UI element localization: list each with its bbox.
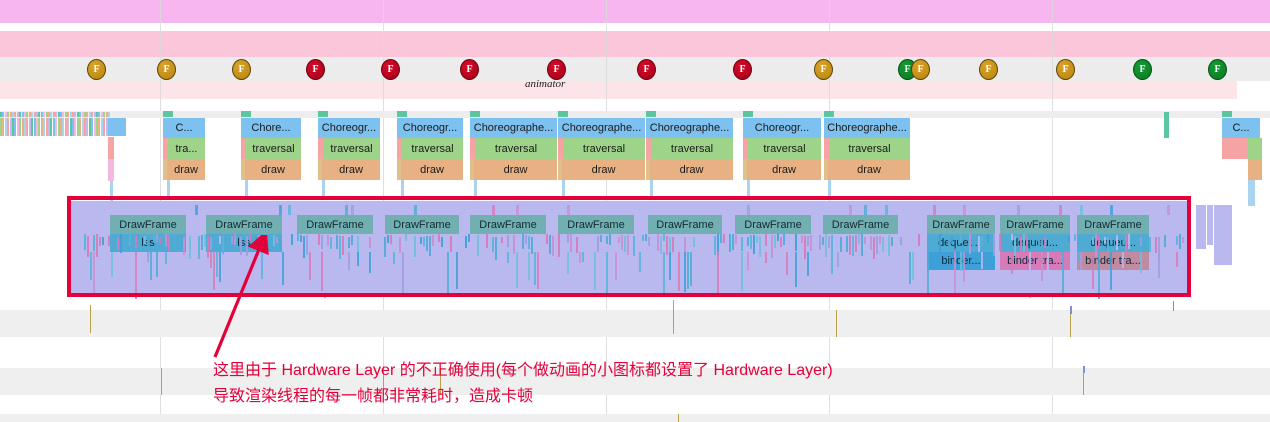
render-thread-fragment [1207,205,1213,245]
render-subslice [1107,236,1109,252]
render-subslice [732,234,734,250]
drawframe-slice-7[interactable]: DrawFrame [735,215,811,234]
frame-marker-amber-11[interactable]: F [911,59,930,80]
ui-slice-draw-0[interactable]: draw [167,159,205,180]
render-subslice [93,252,95,297]
render-subslice [579,252,581,263]
vsync-marker-3 [397,111,407,117]
render-subslice [570,234,572,252]
timeline-tick [1070,314,1071,337]
render-subslice [666,236,668,255]
ui-slice-draw-5[interactable]: draw [562,159,645,180]
render-subslice [84,234,86,250]
drawframe-slice-4[interactable]: DrawFrame [470,215,546,234]
render-subslice [567,234,569,243]
render-subslice [783,234,785,245]
render-subslice [693,237,695,247]
render-subslice [369,237,371,248]
ui-slice-draw-8[interactable]: draw [828,159,910,180]
render-subslice [1125,235,1127,254]
ui-slice-choreographer-2[interactable]: Choreogr... [318,118,380,138]
render-subslice [117,237,119,250]
render-subslice [1089,236,1091,245]
render-subslice [543,237,545,259]
render-subslice [1110,205,1113,215]
render-subslice [1167,205,1170,215]
render-subslice [849,205,852,215]
render-subslice [663,234,665,241]
render-subslice [801,235,803,243]
render-subslice [195,205,198,215]
render-subslice [399,237,401,253]
ui-slice-draw-7[interactable]: draw [747,159,821,180]
vsync-marker-2 [318,111,328,117]
drawframe-slice-2[interactable]: DrawFrame [297,215,373,234]
drawframe-slice-8[interactable]: DrawFrame [823,215,898,234]
render-subslice [753,235,755,254]
annotation-line-2: 导致渲染线程的每一帧都非常耗时，造成卡顿 [213,384,533,410]
render-subslice [1092,252,1094,289]
render-subslice [804,236,806,259]
ui-slice-traversal-1[interactable]: traversal [246,138,301,159]
timeline-tick [836,310,837,337]
render-subslice [687,252,689,289]
render-subslice [450,236,452,252]
render-subslice [318,234,320,245]
render-subslice [576,237,578,253]
render-subslice [531,237,533,254]
render-subslice [963,252,965,282]
render-subslice [93,235,95,251]
render-subslice [660,236,662,254]
render-subslice [279,205,282,215]
frame-marker-red-3[interactable]: F [306,59,325,80]
ui-slice-traversal-6[interactable]: traversal [651,138,733,159]
render-subslice [108,236,110,246]
render-subslice [600,235,602,242]
render-subslice [684,252,686,292]
render-subslice [1047,252,1049,284]
render-subslice [1059,205,1062,215]
ui-slice-traversal-2[interactable]: traversal [323,138,380,159]
render-subslice [1179,234,1181,249]
render-subslice [387,235,389,243]
drawframe-slice-0[interactable]: DrawFrame [110,215,186,234]
render-subslice [810,235,812,251]
render-subslice [375,236,377,254]
render-subslice [780,237,782,247]
render-subslice [852,236,854,256]
frame-marker-amber-2[interactable]: F [232,59,251,80]
ui-slice-traversal-3[interactable]: traversal [402,138,463,159]
render-subslice [501,237,503,243]
ui-slice-choreographer-6[interactable]: Choreographe... [646,118,733,138]
render-subslice [1155,237,1157,253]
render-subslice [147,252,149,262]
render-subslice [402,252,404,296]
render-subslice [165,234,167,246]
render-subslice [1104,237,1106,243]
render-subslice [438,234,440,242]
red-callout-arrow [190,235,300,360]
render-subslice [429,236,431,256]
render-subslice [1116,235,1118,250]
render-subslice [1038,235,1040,249]
timeline-tick [1083,366,1085,373]
render-subslice [606,252,608,293]
render-subslice [432,235,434,246]
render-subslice [621,235,623,250]
ui-slice-draw-3[interactable]: draw [401,159,463,180]
frame-marker-red-8[interactable]: F [733,59,752,80]
ui-slice-fragment [1248,159,1262,180]
ui-slice-draw-4[interactable]: draw [474,159,557,180]
render-subslice [771,235,773,258]
render-subslice [747,252,749,270]
render-subslice [639,252,641,272]
render-subslice [495,237,497,260]
frame-marker-amber-13[interactable]: F [1056,59,1075,80]
ui-slice-traversal-7[interactable]: traversal [748,138,821,159]
render-subslice [159,237,161,243]
ui-slice-choreographer-0[interactable]: C... [163,118,205,138]
render-subslice [537,252,539,289]
frame-marker-amber-0[interactable]: F [87,59,106,80]
render-subslice [348,237,350,248]
timeline-tick [1173,301,1174,311]
render-subslice [960,252,962,271]
render-subslice [321,235,323,249]
frame-marker-red-5[interactable]: F [460,59,479,80]
render-subslice [1098,252,1100,299]
render-subslice [933,205,936,215]
frame-marker-green-15[interactable]: F [1208,59,1227,80]
render-subslice [1122,252,1124,268]
render-subslice [582,252,584,262]
ui-slice-draw-1[interactable]: draw [245,159,301,180]
render-subslice [999,234,1001,251]
render-subslice [321,252,323,291]
ui-slice-traversal-5[interactable]: traversal [563,138,645,159]
render-subslice [144,236,146,244]
ui-slice-traversal-8[interactable]: traversal [829,138,910,159]
render-subslice [954,252,956,297]
render-subslice [915,234,917,243]
render-subslice [981,252,983,269]
ui-slice-choreographer-7[interactable]: Choreogr... [743,118,821,138]
render-subslice [642,235,644,241]
render-subslice [135,236,137,248]
render-subslice [528,252,530,280]
render-subslice [441,237,443,247]
render-subslice [324,252,326,298]
render-subslice [1014,236,1016,256]
frame-marker-amber-1[interactable]: F [157,59,176,80]
render-subslice [849,235,851,255]
render-subslice [447,252,449,293]
render-subslice [423,252,425,294]
render-subslice [1110,252,1112,290]
render-subslice [963,205,966,215]
render-subslice [1044,237,1046,248]
render-subslice [102,237,104,245]
render-subslice [597,236,599,252]
render-subslice [423,237,425,246]
ui-slice-sync-7 [747,180,750,198]
render-subslice [819,235,821,250]
ui-slice-choreographer-8[interactable]: Choreographe... [824,118,910,138]
render-subslice [456,252,458,289]
render-subslice [750,235,752,249]
vsync-marker-6 [646,111,656,117]
render-subslice [135,252,137,299]
render-subslice [879,236,881,244]
render-subslice [525,235,527,244]
render-subslice [690,252,692,286]
render-subslice [741,252,743,291]
render-subslice [678,252,680,291]
render-subslice [765,234,767,246]
render-subslice [183,237,185,255]
render-subslice [516,205,519,215]
render-subslice [885,205,888,215]
render-subslice [1080,205,1083,215]
render-subslice [795,234,797,251]
render-subslice [615,252,617,280]
drawframe-slice-11[interactable]: DrawFrame [1077,215,1149,234]
render-subslice [1164,235,1166,247]
render-subslice [111,235,113,245]
drawframe-slice-1[interactable]: DrawFrame [206,215,282,234]
timeline-canvas: FFFFFFFFFFFFFFFF animator C...tra...draw… [0,0,1270,422]
render-subslice [516,252,518,288]
ui-slice-sync-3 [401,180,404,198]
render-subslice [633,236,635,256]
render-subslice [534,252,536,285]
render-subslice [822,237,824,245]
render-subslice [327,235,329,246]
render-subslice [426,236,428,251]
render-subslice [492,205,495,215]
render-subslice [99,237,101,246]
drawframe-slice-6[interactable]: DrawFrame [648,215,722,234]
render-subslice [840,237,842,252]
drawframe-slice-10[interactable]: DrawFrame [1000,215,1070,234]
ui-slice-sync-0 [167,180,170,198]
render-subslice [837,252,839,267]
vsync-marker-8 [824,111,834,117]
render-subslice [513,235,515,254]
render-subslice [111,252,113,277]
vsync-marker-0 [163,111,173,117]
drawframe-slice-3[interactable]: DrawFrame [385,215,459,234]
ui-slice-sync-4 [474,180,477,198]
frame-marker-red-6[interactable]: F [547,59,566,80]
render-subslice [786,234,788,251]
render-subslice [717,252,719,294]
render-subslice [414,236,416,257]
render-subslice [1086,235,1088,246]
vsync-marker-9 [1222,111,1232,117]
timeline-tick [161,368,162,395]
render-subslice [507,235,509,247]
frame-marker-green-14[interactable]: F [1133,59,1152,80]
render-subslice [606,236,608,244]
render-subslice [711,205,714,215]
ui-slice-traversal-0[interactable]: tra... [168,138,205,159]
ui-slice-draw-2[interactable]: draw [322,159,380,180]
ui-slice-sync-8 [828,180,831,198]
render-subslice [861,234,863,256]
render-subslice [1080,252,1082,270]
render-subslice [315,252,317,279]
render-subslice [960,235,962,243]
render-subslice [567,252,569,274]
render-subslice [774,235,776,248]
ui-slice-sync-6 [650,180,653,198]
render-subslice [477,235,479,256]
render-subslice [357,252,359,266]
ui-slice-choreographer-9[interactable]: C... [1222,118,1260,138]
render-subslice [528,236,530,249]
render-subslice [165,252,167,264]
render-subslice [393,252,395,264]
frame-marker-red-4[interactable]: F [381,59,400,80]
render-subslice [609,234,611,245]
ui-slice-sync-5 [562,180,565,198]
render-subslice [891,237,893,246]
render-subslice [486,234,488,248]
render-subslice [987,234,989,243]
render-subslice [1020,236,1022,252]
lower-row-3 [0,414,1270,422]
render-subslice [711,236,713,243]
render-subslice [153,235,155,242]
timeline-tick [90,305,91,333]
render-subslice [729,234,731,252]
timeline-tick [678,414,679,422]
render-subslice [492,252,494,262]
render-subslice [876,236,878,254]
render-subslice [558,234,560,257]
render-subslice [303,236,305,258]
render-subslice [741,237,743,251]
render-subslice [1029,252,1031,298]
render-subslice [150,252,152,280]
render-subslice [546,234,548,244]
render-subslice [777,234,779,241]
ui-slice-choreographer-5[interactable]: Choreographe... [558,118,645,138]
render-subslice [156,234,158,242]
ui-slice-choreographer-1[interactable]: Chore... [241,118,301,138]
render-subslice [369,252,371,273]
render-subslice [714,236,716,255]
render-subslice [789,237,791,257]
ui-slice-fragment [1164,112,1169,138]
drawframe-slice-9[interactable]: DrawFrame [927,215,995,234]
render-subslice [1128,234,1130,249]
render-subslice [414,205,417,215]
ui-slice-choreographer-4[interactable]: Choreographe... [470,118,557,138]
render-subslice [90,252,92,280]
render-subslice [795,252,797,287]
render-subslice [927,234,929,250]
render-subslice [858,234,860,244]
render-subslice [1032,234,1034,245]
ui-slice-sync-1 [245,180,248,198]
render-subslice [807,236,809,246]
ui-slice-choreographer-3[interactable]: Choreogr... [397,118,463,138]
vsync-marker-4 [470,111,480,117]
render-subslice [969,234,971,254]
render-thread-fragment [1196,205,1206,249]
render-subslice [948,237,950,253]
band-async-magenta [0,0,1270,23]
render-subslice [522,234,524,249]
render-subslice [627,235,629,255]
band-async-pink [0,31,1270,57]
render-subslice [720,234,722,243]
drawframe-binder-11[interactable]: binder tra... [1077,252,1149,270]
ui-slice-traversal-4[interactable]: traversal [475,138,557,159]
render-subslice [1176,252,1178,267]
render-subslice [549,235,551,254]
render-subslice [1092,237,1094,244]
render-subslice [951,237,953,244]
render-subslice [405,234,407,241]
render-subslice [765,252,767,263]
render-subslice [345,236,347,242]
frame-marker-amber-12[interactable]: F [979,59,998,80]
render-subslice [747,205,750,215]
ui-left-block [108,159,114,181]
render-subslice [1062,252,1064,297]
render-subslice [636,234,638,240]
render-subslice [756,236,758,243]
render-subslice [351,205,354,215]
drawframe-slice-5[interactable]: DrawFrame [558,215,634,234]
frame-marker-amber-9[interactable]: F [814,59,833,80]
render-subslice [129,235,131,246]
render-subslice [1017,205,1020,215]
frame-marker-red-7[interactable]: F [637,59,656,80]
render-subslice [1041,252,1043,281]
render-subslice [336,235,338,249]
ui-slice-draw-6[interactable]: draw [650,159,733,180]
render-subslice [972,235,974,247]
animator-label: animator [525,78,565,90]
render-subslice [1098,236,1100,249]
render-subslice [648,237,650,246]
render-subslice [567,205,570,215]
render-subslice [663,252,665,295]
render-subslice [1068,236,1070,242]
render-subslice [594,252,596,290]
render-subslice [561,236,563,242]
render-subslice [978,252,980,262]
render-subslice [831,235,833,252]
render-subslice [1149,237,1151,252]
render-subslice [927,252,929,293]
render-subslice [420,237,422,244]
render-subslice [384,237,386,257]
render-subslice [552,236,554,256]
ui-slice-sync-2 [322,180,325,198]
render-subslice [846,236,848,252]
vsync-marker-7 [743,111,753,117]
render-subslice [618,237,620,243]
render-subslice [747,237,749,246]
